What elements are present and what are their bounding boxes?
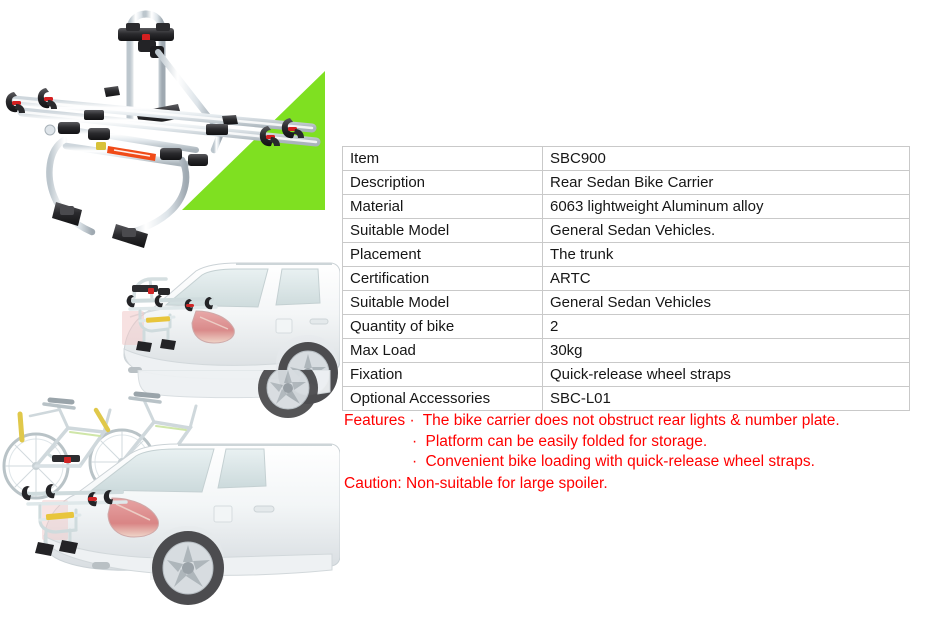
spec-value: The trunk xyxy=(543,243,910,267)
spec-key: Suitable Model xyxy=(343,291,543,315)
spec-key: Certification xyxy=(343,267,543,291)
caution-line: Caution: Non-suitable for large spoiler. xyxy=(344,473,924,495)
feature-text-1: The bike carrier does not obstruct rear … xyxy=(423,412,840,429)
car-photo-bikes-loaded xyxy=(0,370,340,623)
hero-carrier-illustration xyxy=(0,0,340,260)
spec-key: Fixation xyxy=(343,363,543,387)
table-row: Certification ARTC xyxy=(343,267,910,291)
features-line-2: · Platform can be easily folded for stor… xyxy=(344,432,924,453)
spec-value: Rear Sedan Bike Carrier xyxy=(543,171,910,195)
table-row: Material 6063 lightweight Aluminum alloy xyxy=(343,195,910,219)
spec-value: 2 xyxy=(543,315,910,339)
spec-key: Placement xyxy=(343,243,543,267)
spec-key: Description xyxy=(343,171,543,195)
table-row: Suitable Model General Sedan Vehicles. xyxy=(343,219,910,243)
spec-value: Quick-release wheel straps xyxy=(543,363,910,387)
table-row: Placement The trunk xyxy=(343,243,910,267)
features-label: Features xyxy=(344,412,405,429)
spec-key: Quantity of bike xyxy=(343,315,543,339)
spec-value: SBC900 xyxy=(543,147,910,171)
folding-platform xyxy=(45,122,208,248)
spec-key: Suitable Model xyxy=(343,219,543,243)
rail-saddle-2 xyxy=(222,115,238,125)
table-row: Fixation Quick-release wheel straps xyxy=(343,363,910,387)
table-row: Optional Accessories SBC-L01 xyxy=(343,387,910,411)
rail-saddle-4 xyxy=(206,124,228,135)
features-notes-block: Features · The bike carrier does not obs… xyxy=(344,411,924,494)
features-line-3: · Convenient bike loading with quick-rel… xyxy=(344,452,924,473)
spec-value: SBC-L01 xyxy=(543,387,910,411)
bullet-dot: · xyxy=(409,412,418,429)
rail-saddle-1 xyxy=(104,86,120,97)
table-row: Description Rear Sedan Bike Carrier xyxy=(343,171,910,195)
mast-clamp xyxy=(118,23,174,58)
spec-key: Item xyxy=(343,147,543,171)
bullet-dot: · xyxy=(412,433,421,450)
table-row: Quantity of bike 2 xyxy=(343,315,910,339)
features-line-1: Features · The bike carrier does not obs… xyxy=(344,411,924,432)
rear-wheel-2 xyxy=(152,531,224,605)
spec-value: 6063 lightweight Aluminum alloy xyxy=(543,195,910,219)
spec-key: Max Load xyxy=(343,339,543,363)
table-row: Item SBC900 xyxy=(343,147,910,171)
table-row: Max Load 30kg xyxy=(343,339,910,363)
rail-saddle-3 xyxy=(84,110,104,120)
table-row: Suitable Model General Sedan Vehicles xyxy=(343,291,910,315)
feature-text-3: Convenient bike loading with quick-relea… xyxy=(425,453,814,470)
spec-key: Optional Accessories xyxy=(343,387,543,411)
bullet-dot: · xyxy=(412,453,421,470)
feature-text-2: Platform can be easily folded for storag… xyxy=(425,433,707,450)
product-images-pane xyxy=(0,0,340,623)
spec-value: ARTC xyxy=(543,267,910,291)
spec-value: General Sedan Vehicles xyxy=(543,291,910,315)
spec-value: General Sedan Vehicles. xyxy=(543,219,910,243)
spec-table-body: Item SBC900 Description Rear Sedan Bike … xyxy=(343,147,910,411)
specification-table: Item SBC900 Description Rear Sedan Bike … xyxy=(342,146,910,411)
spec-value: 30kg xyxy=(543,339,910,363)
upper-car-fragment xyxy=(138,370,330,418)
spec-key: Material xyxy=(343,195,543,219)
